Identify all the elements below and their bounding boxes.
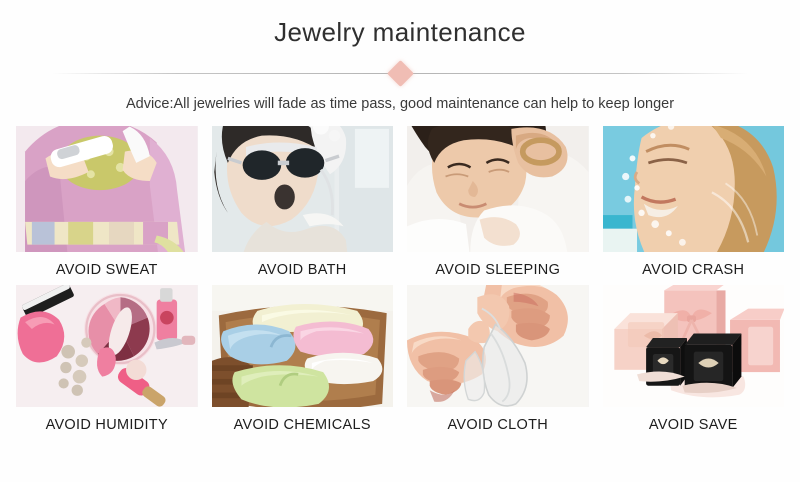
caption-label: AVOID CHEMICALS <box>234 416 371 434</box>
woman-wiping-sweat-photo <box>16 126 198 252</box>
header: Jewelry maintenance Advice:All jewelries… <box>0 0 800 114</box>
caption-label: AVOID HUMIDITY <box>46 416 168 434</box>
grid-item-avoid-humidity: AVOID HUMIDITY <box>16 285 198 434</box>
woman-sleeping-on-pillow-photo <box>407 126 589 252</box>
woman-bathing-with-sunglasses-photo <box>212 126 394 252</box>
advice-text: Advice:All jewelries will fade as time p… <box>0 94 800 114</box>
page-title: Jewelry maintenance <box>0 16 800 48</box>
grid-item-avoid-sleeping: AVOID SLEEPING <box>407 126 589 279</box>
pink-gift-boxes-jewelry-case-photo <box>603 285 785 407</box>
caption-label: AVOID SAVE <box>649 416 738 434</box>
caption-label: AVOID CRASH <box>642 261 744 279</box>
tips-grid: AVOID SWEAT <box>0 126 800 434</box>
woman-water-splash-photo <box>603 126 785 252</box>
grid-item-avoid-sweat: AVOID SWEAT <box>16 126 198 279</box>
grid-item-avoid-save: AVOID SAVE <box>603 285 785 434</box>
caption-label: AVOID SWEAT <box>56 261 158 279</box>
pastel-towels-in-basket-photo <box>212 285 394 407</box>
divider <box>0 60 800 86</box>
caption-label: AVOID BATH <box>258 261 347 279</box>
grid-item-avoid-crash: AVOID CRASH <box>603 126 785 279</box>
pink-cosmetics-flatlay-photo <box>16 285 198 407</box>
hands-holding-plastic-wrap-photo <box>407 285 589 407</box>
caption-label: AVOID CLOTH <box>447 416 548 434</box>
diamond-icon <box>387 60 414 87</box>
grid-item-avoid-chemicals: AVOID CHEMICALS <box>212 285 394 434</box>
jewelry-maintenance-infographic: Jewelry maintenance Advice:All jewelries… <box>0 0 800 482</box>
caption-label: AVOID SLEEPING <box>435 261 560 279</box>
grid-item-avoid-cloth: AVOID CLOTH <box>407 285 589 434</box>
grid-item-avoid-bath: AVOID BATH <box>212 126 394 279</box>
